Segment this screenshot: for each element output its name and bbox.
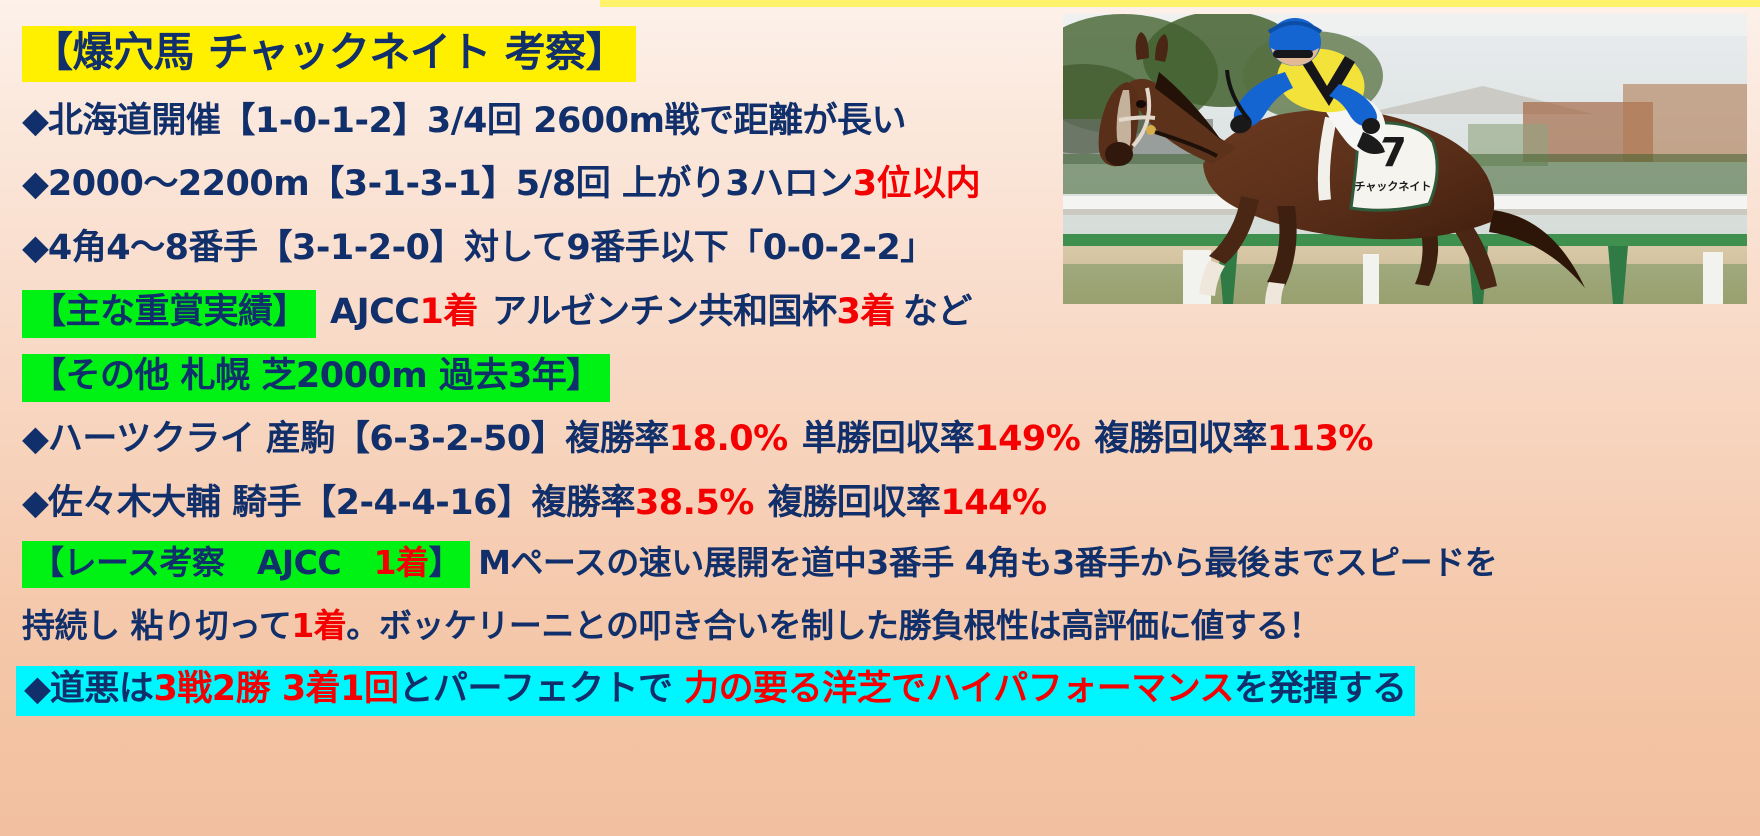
conclusion-seg5: を発揮する bbox=[1234, 669, 1407, 709]
graded-results-race2: アルゼンチン共和国杯 bbox=[492, 292, 837, 332]
graded-results-label: 【主な重賞実績】 bbox=[22, 290, 316, 338]
section-header-other-label: 【その他 札幌 芝2000m 過去3年】 bbox=[22, 354, 610, 402]
race-review-label-pre: 【レース考察 AJCC bbox=[31, 543, 374, 582]
stat-line-jockey: ◆佐々木大輔 騎手【2-4-4-16】複勝率38.5%複勝回収率144% bbox=[22, 474, 1047, 525]
bullet-diamond-icon: ◆ bbox=[22, 101, 48, 141]
conclusion-seg4: 力の要る洋芝でハイパフォーマンス bbox=[684, 669, 1234, 709]
bullet-diamond-icon: ◆ bbox=[24, 669, 50, 709]
conclusion-highlight: ◆道悪は3戦2勝 3着1回とパーフェクトで 力の要る洋芝でハイパフォーマンスを発… bbox=[16, 666, 1415, 716]
bullet-diamond-icon: ◆ bbox=[22, 483, 48, 523]
stat-line-distance-emphasis: 3位以内 bbox=[853, 164, 980, 204]
conclusion-seg3: とパーフェクトで bbox=[399, 669, 685, 709]
graded-results-race1-place: 1着 bbox=[420, 292, 478, 332]
stat-line-graded-results: 【主な重賞実績】AJCC1着アルゼンチン共和国杯3着など bbox=[22, 283, 972, 334]
conclusion-line: ◆道悪は3戦2勝 3着1回とパーフェクトで 力の要る洋芝でハイパフォーマンスを発… bbox=[16, 660, 1415, 711]
bullet-diamond-icon: ◆ bbox=[22, 419, 48, 459]
race-review-body-line2-place: 1着 bbox=[291, 606, 346, 645]
page-title: 【爆穴馬 チャックネイト 考察】 bbox=[22, 18, 636, 78]
conclusion-seg1: 道悪は bbox=[50, 669, 154, 709]
bullet-diamond-icon: ◆ bbox=[22, 228, 48, 268]
race-review-label-post: 】 bbox=[429, 543, 462, 582]
conclusion-seg2: 3戦2勝 3着1回 bbox=[153, 669, 398, 709]
stat-line-sire-value2: 149% bbox=[974, 419, 1080, 459]
stat-line-sire-label2: 単勝回収率 bbox=[802, 419, 975, 459]
race-review-body-line2-b: 。ボッケリーニとの叩き合いを制した勝負根性は高評価に値する！ bbox=[346, 606, 1321, 645]
stat-line-sire-value1: 18.0% bbox=[669, 419, 788, 459]
stat-line-jockey-text: 佐々木大輔 騎手【2-4-4-16】複勝率 bbox=[48, 483, 635, 523]
stat-line-sire-text: ハーツクライ 産駒【6-3-2-50】複勝率 bbox=[48, 419, 669, 459]
section-header-other: 【その他 札幌 芝2000m 過去3年】 bbox=[22, 347, 610, 398]
graded-results-race2-place: 3着 bbox=[837, 292, 895, 332]
race-review-body-line2-a: 持続し 粘り切って bbox=[22, 606, 291, 645]
graded-results-race1: AJCC bbox=[330, 292, 419, 332]
stat-line-distance-text: 2000〜2200m【3-1-3-1】5/8回 上がり3ハロン bbox=[48, 164, 853, 204]
stat-line-corner-text: 4角4〜8番手【3-1-2-0】対して9番手以下「0-0-2-2」 bbox=[48, 228, 935, 268]
stat-line-distance: ◆2000〜2200m【3-1-3-1】5/8回 上がり3ハロン3位以内 bbox=[22, 155, 980, 206]
race-review-label: 【レース考察 AJCC 1着】 bbox=[22, 541, 470, 588]
page-title-text: 【爆穴馬 チャックネイト 考察】 bbox=[22, 26, 636, 82]
stat-line-hokkaido: ◆北海道開催【1-0-1-2】3/4回 2600m戦で距離が長い bbox=[22, 92, 906, 143]
stat-line-jockey-value1: 38.5% bbox=[635, 483, 754, 523]
text-content-column: 【爆穴馬 チャックネイト 考察】 ◆北海道開催【1-0-1-2】3/4回 260… bbox=[0, 0, 1760, 836]
poster-root: 7 チャックネイト bbox=[0, 0, 1760, 836]
race-review-label-place: 1着 bbox=[374, 543, 429, 582]
stat-line-sire-value3: 113% bbox=[1267, 419, 1373, 459]
stat-line-jockey-label2: 複勝回収率 bbox=[768, 483, 941, 523]
race-review-line-1: 【レース考察 AJCC 1着】Mペースの速い展開を道中3番手 4角も3番手から最… bbox=[22, 536, 1497, 584]
stat-line-sire-label3: 複勝回収率 bbox=[1094, 419, 1267, 459]
stat-line-corner: ◆4角4〜8番手【3-1-2-0】対して9番手以下「0-0-2-2」 bbox=[22, 219, 935, 270]
graded-results-suffix: など bbox=[903, 292, 972, 332]
bullet-diamond-icon: ◆ bbox=[22, 164, 48, 204]
race-review-line-2: 持続し 粘り切って1着。ボッケリーニとの叩き合いを制した勝負根性は高評価に値する… bbox=[22, 599, 1321, 647]
stat-line-jockey-value2: 144% bbox=[940, 483, 1046, 523]
stat-line-hokkaido-text: 北海道開催【1-0-1-2】3/4回 2600m戦で距離が長い bbox=[48, 101, 906, 141]
stat-line-sire: ◆ハーツクライ 産駒【6-3-2-50】複勝率18.0%単勝回収率149%複勝回… bbox=[22, 410, 1373, 461]
race-review-body-line1: Mペースの速い展開を道中3番手 4角も3番手から最後までスピードを bbox=[478, 543, 1497, 582]
